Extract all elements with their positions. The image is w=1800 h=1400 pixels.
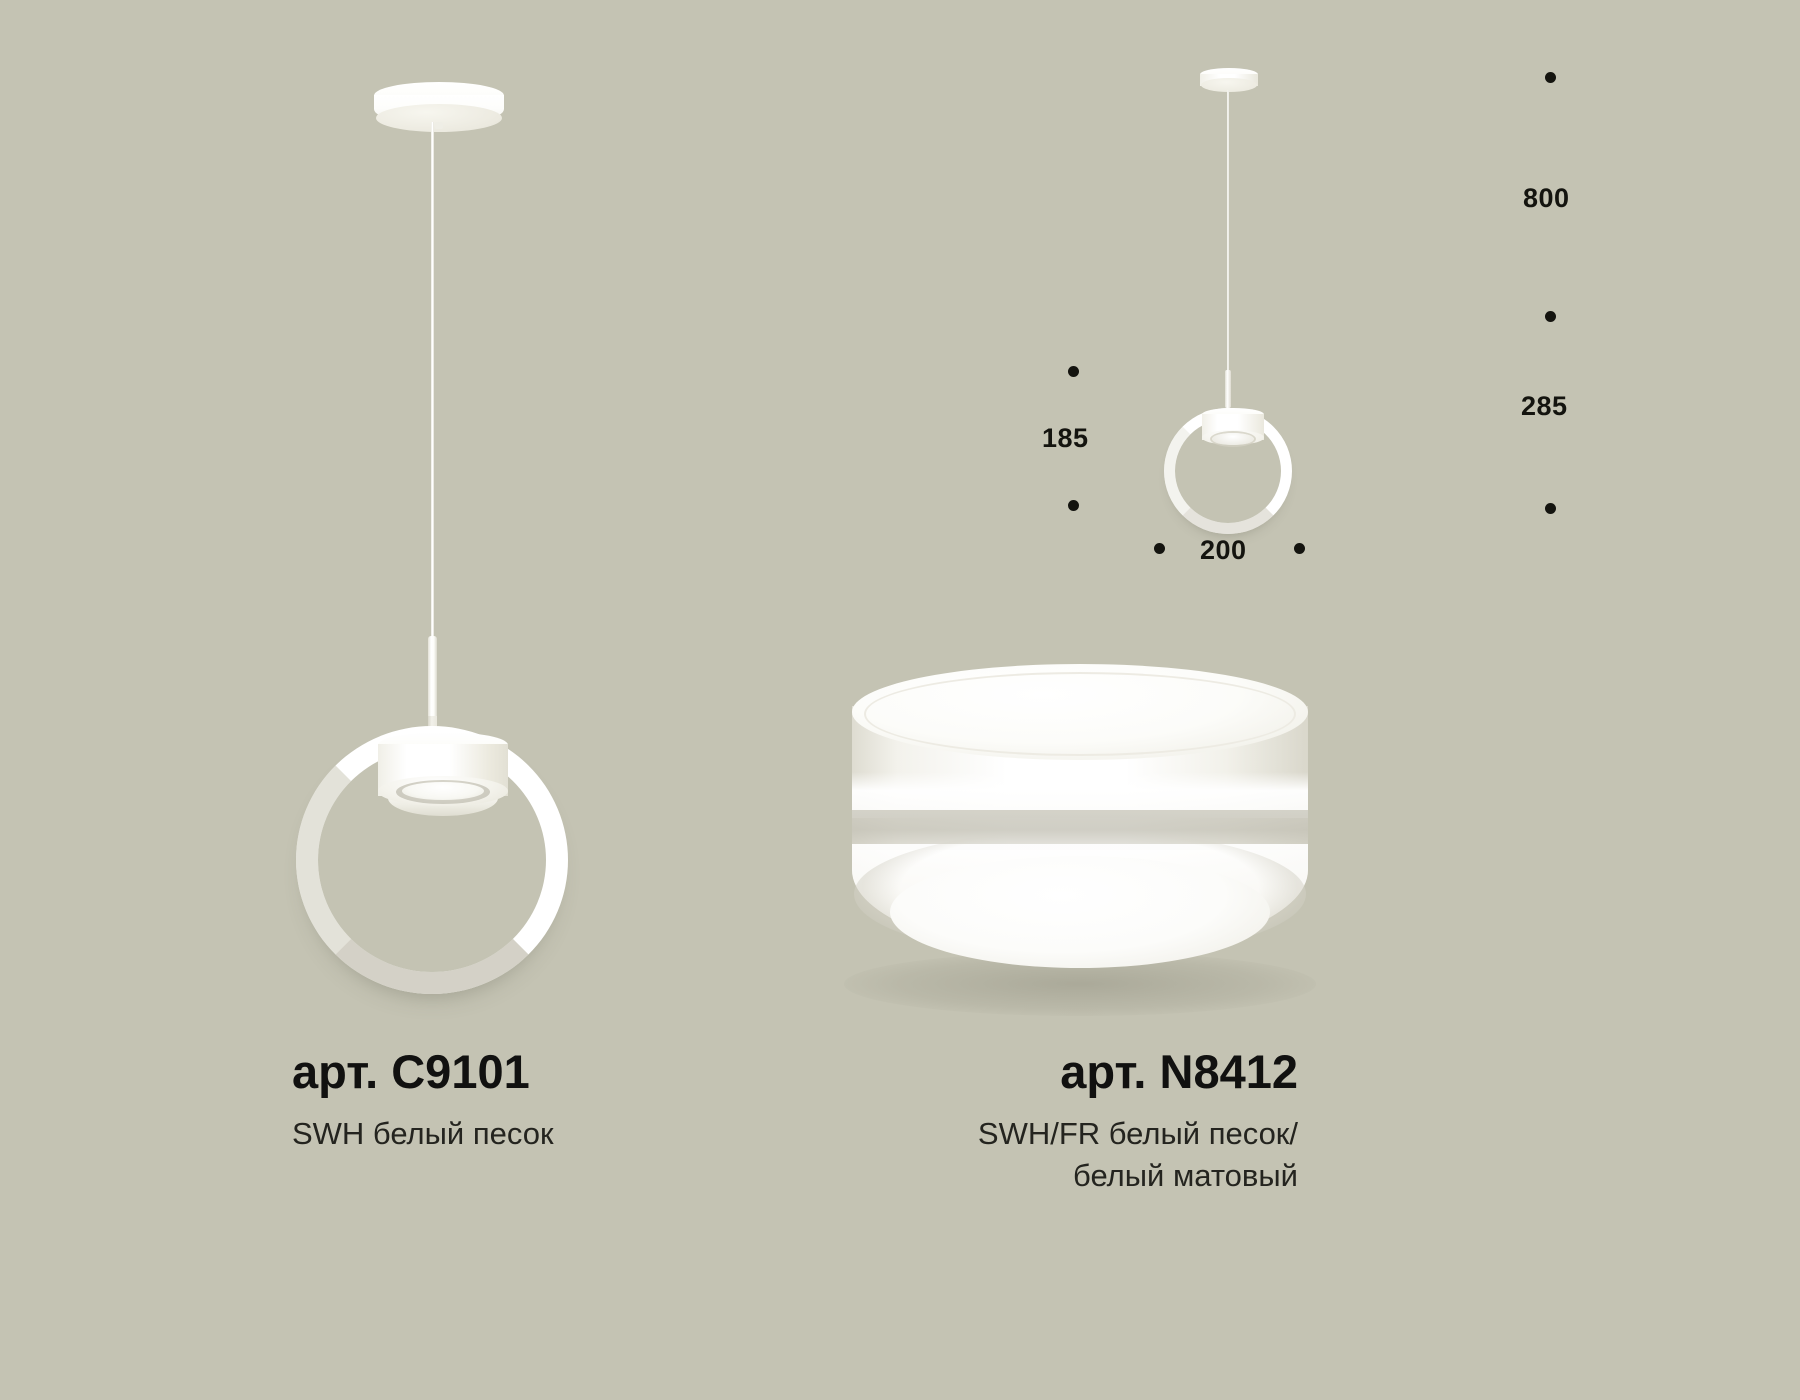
drawing-canopy-bottom [1201,78,1257,92]
drawing-cord-ferrule [1225,370,1231,408]
cord-ferrule [428,636,437,724]
finish-description-n8412-line1: SWH/FR белый песок/ [978,1113,1298,1155]
article-number-c9101: арт. C9101 [292,1044,554,1099]
canopy-cord-outlet [435,122,443,129]
drawing-suspension-cord [1227,90,1229,372]
caption-c9101: арт. C9101 SWH белый песок [292,1044,554,1155]
dimension-marker-185-bottom [1068,500,1079,511]
dimension-marker-185-top [1068,366,1079,377]
ceiling-canopy [374,82,504,136]
product-image-c9101 [0,0,900,1400]
diffuser-bottom-lens [890,856,1270,968]
finish-description-c9101-line1: SWH белый песок [292,1113,554,1155]
suspension-cord [431,122,434,642]
caption-n8412: арт. N8412 SWH/FR белый песок/ белый мат… [978,1044,1298,1196]
light-head [374,732,512,824]
dimension-marker-285-bottom [1545,503,1556,514]
drawing-ceiling-canopy [1200,68,1258,94]
technical-drawing: 800 285 185 200 [1000,40,1560,600]
product-image-n8412 [830,660,1330,1040]
dimension-marker-200-right [1294,543,1305,554]
dimension-marker-800-top [1545,72,1556,83]
finish-description-n8412-line2: белый матовый [978,1155,1298,1197]
drawing-head-lens [1212,433,1254,445]
dimension-marker-800-bottom [1545,311,1556,322]
dimension-label-200: 200 [1200,535,1247,566]
spec-sheet-canvas: 800 285 185 200 арт. C9101 SWH белый пес… [0,0,1800,1400]
article-number-n8412: арт. N8412 [978,1044,1298,1099]
dimension-label-800: 800 [1523,183,1570,214]
dimension-label-185: 185 [1042,423,1089,454]
light-head-lens [402,782,484,800]
dimension-label-285: 285 [1521,391,1568,422]
dimension-marker-200-left [1154,543,1165,554]
diffuser-top-lip [864,672,1296,756]
drawing-light-head [1200,408,1266,456]
